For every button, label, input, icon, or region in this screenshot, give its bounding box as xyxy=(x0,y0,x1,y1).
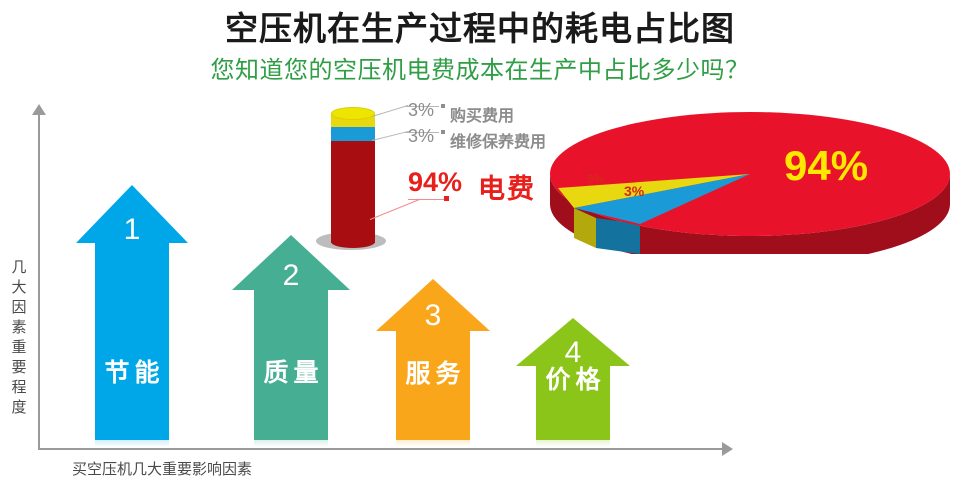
arrow-bar-2: 2 质量 xyxy=(232,235,350,440)
x-axis-label: 买空压机几大重要影响因素 xyxy=(72,458,252,479)
arrow-body-1 xyxy=(95,240,169,440)
cylinder-label-pct-maintenance: 3% xyxy=(408,126,434,147)
arrow-caption-4: 价格 xyxy=(516,360,630,396)
cylinder-label-name-electricity: 电费 xyxy=(478,167,536,206)
arrow-reflection-4 xyxy=(536,431,610,447)
pie-label-maintenance: 3% xyxy=(624,183,644,199)
pie-svg xyxy=(548,112,952,254)
leader-dot-purchase xyxy=(441,104,445,108)
leader-dot-maintenance xyxy=(441,130,445,134)
page-title: 空压机在生产过程中的耗电占比图 xyxy=(0,2,960,50)
y-axis-label: 几大因素重要程度 xyxy=(6,258,32,418)
x-axis-arrowhead-icon xyxy=(722,442,733,456)
leader-underline-electricity xyxy=(408,199,446,200)
arrow-bar-3: 3 服务 xyxy=(376,279,490,440)
y-axis-arrowhead-icon xyxy=(32,104,46,115)
arrow-rank-1: 1 xyxy=(76,213,188,247)
arrow-bar-4: 4 价格 xyxy=(516,318,630,440)
y-axis-line xyxy=(38,112,40,450)
arrow-caption-2: 质量 xyxy=(232,353,350,389)
cylinder-label-name-purchase: 购买费用 xyxy=(450,102,514,126)
page-subtitle: 您知道您的空压机电费成本在生产中占比多少吗？ xyxy=(0,50,960,85)
infographic-canvas: 空压机在生产过程中的耗电占比图 您知道您的空压机电费成本在生产中占比多少吗？ 几… xyxy=(0,0,960,483)
cylinder-label-pct-purchase: 3% xyxy=(408,100,434,121)
arrow-bar-1: 1 节能 xyxy=(76,185,188,440)
leader-line-electricity xyxy=(370,199,420,220)
arrow-rank-3: 3 xyxy=(376,299,490,333)
cylinder-label-pct-electricity: 94% xyxy=(408,167,462,198)
cylinder-purchase-top-ellipse xyxy=(331,107,375,120)
arrow-caption-3: 服务 xyxy=(376,354,490,390)
arrow-rank-2: 2 xyxy=(232,259,350,293)
pie-chart-3d xyxy=(548,112,952,254)
arrow-reflection-2 xyxy=(254,431,328,447)
pie-label-purchase: 3% xyxy=(587,172,604,186)
pie-label-electricity: 94% xyxy=(784,142,868,190)
leader-line-purchase xyxy=(372,105,409,117)
x-axis-line xyxy=(38,448,724,450)
arrow-reflection-1 xyxy=(95,431,169,447)
cylinder-label-name-maintenance: 维修保养费用 xyxy=(450,128,546,152)
arrow-reflection-3 xyxy=(396,431,470,447)
arrow-caption-1: 节能 xyxy=(76,353,188,389)
cylinder-segment-electricity xyxy=(331,139,375,243)
